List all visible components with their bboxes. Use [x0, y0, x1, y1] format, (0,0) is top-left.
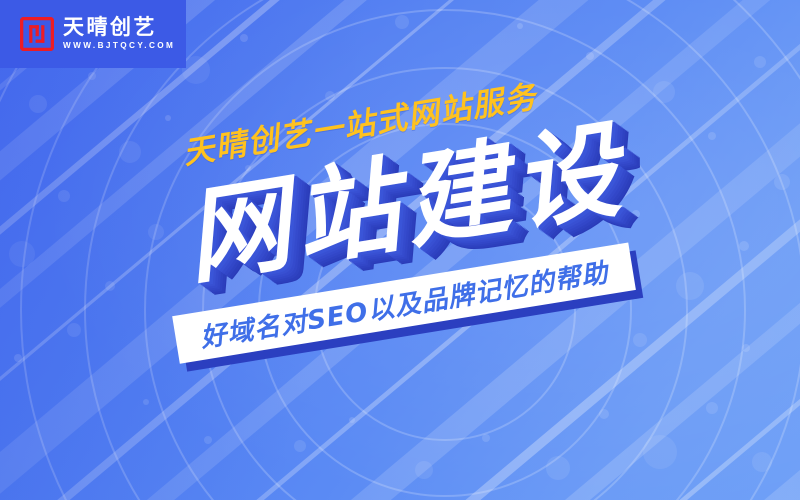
logo-panel[interactable]: 天晴创艺 WWW.BJTQCY.COM: [0, 0, 186, 68]
logo-website-url: WWW.BJTQCY.COM: [63, 42, 175, 50]
headline-group: 天晴创艺一站式网站服务 网站建设 好域名对SEO以及品牌记忆的帮助: [0, 0, 800, 500]
logo-text: 天晴创艺 WWW.BJTQCY.COM: [63, 17, 175, 50]
tianqing-chuangyi-logo-mark-icon: [20, 17, 54, 51]
logo-company-name: 天晴创艺: [63, 17, 175, 38]
promo-banner: 天晴创艺 WWW.BJTQCY.COM 天晴创艺一站式网站服务 网站建设 好域名…: [0, 0, 800, 500]
